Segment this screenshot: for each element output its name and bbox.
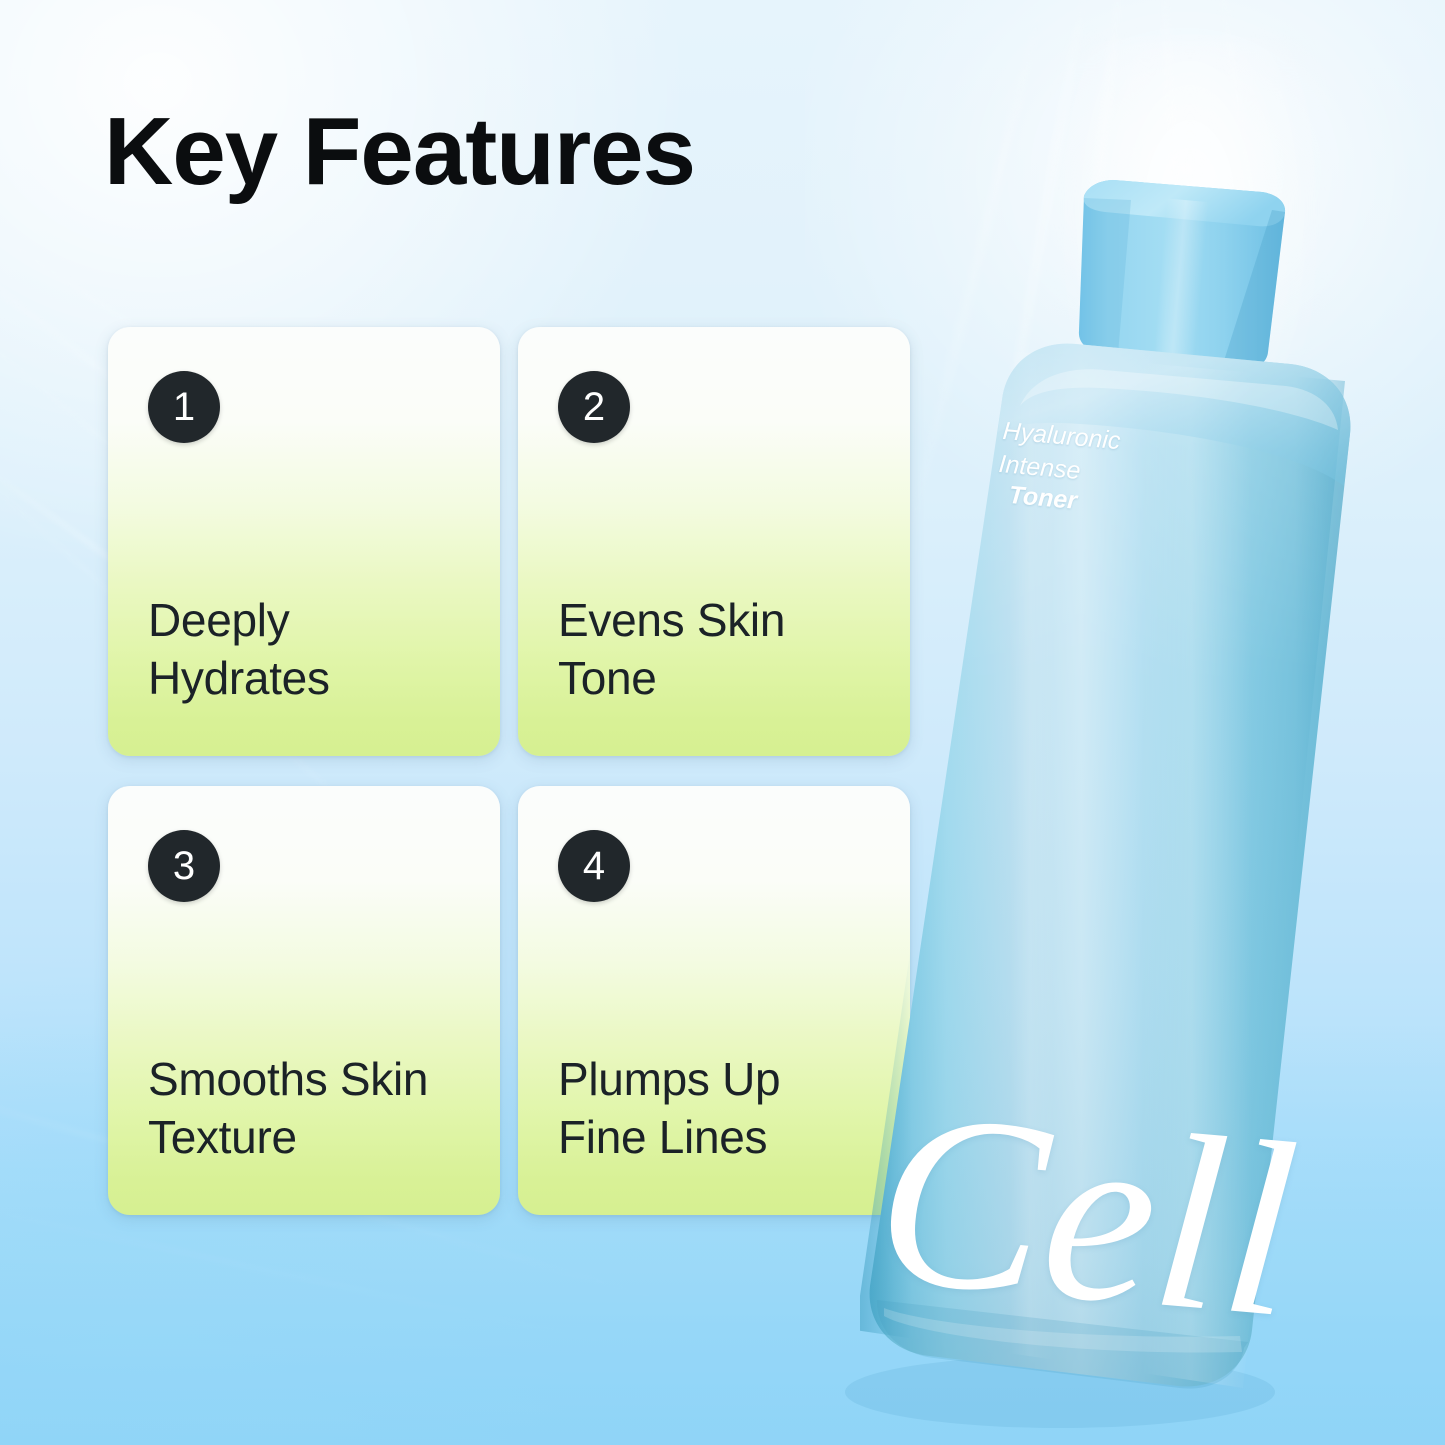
bottle-label-line-3: Toner [1007, 481, 1078, 516]
bottle-label-line-1: Hyaluronic [1001, 417, 1121, 456]
bottle-brand-text: Cell [868, 1072, 1305, 1357]
bottle-label-text: Hyaluronic Intense Toner Cell [0, 0, 1445, 1445]
